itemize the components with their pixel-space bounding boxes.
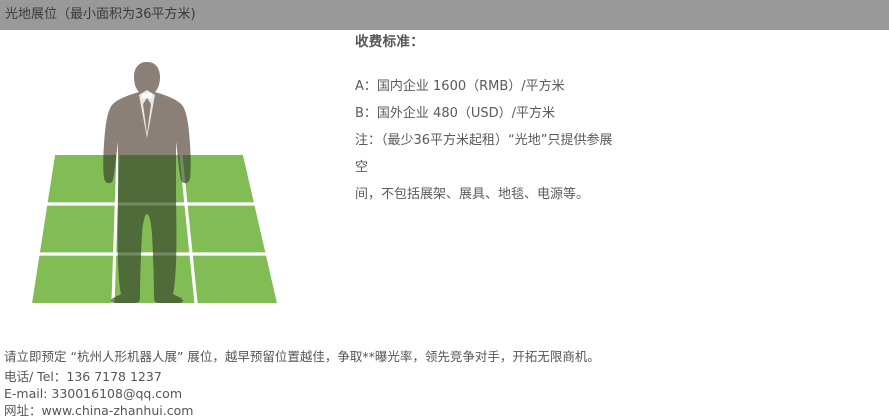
page-title: 光地展位（最小面积为36平方米) <box>5 7 196 23</box>
pricing-item-overseas: B：国外企业 480（USD）/平方米 <box>355 100 775 127</box>
raw-space-diagram-svg <box>0 38 330 328</box>
pricing-note-line-1: 注：（最少36平方米起租）“光地”只提供参展空 <box>355 127 625 181</box>
booth-illustration <box>0 38 330 328</box>
footer-call-to-action: 请立即预定 “杭州人形机器人展” 展位，越早预留位置越佳，争取**曝光率，领先竞… <box>4 348 884 366</box>
pricing-item-domestic: A：国内企业 1600（RMB）/平方米 <box>355 73 775 100</box>
section-header-bar: 光地展位（最小面积为36平方米) <box>0 0 889 30</box>
pricing-list: A：国内企业 1600（RMB）/平方米 B：国外企业 480（USD）/平方米 <box>355 73 775 127</box>
footer-block: 请立即预定 “杭州人形机器人展” 展位，越早预留位置越佳，争取**曝光率，领先竞… <box>4 348 884 419</box>
pricing-heading: 收费标准： <box>355 33 775 51</box>
footer-email[interactable]: E-mail: 330016108@qq.com <box>4 385 884 402</box>
figure-upper <box>90 38 210 155</box>
footer-phone: 电话/ Tel：136 7178 1237 <box>4 368 884 385</box>
footer-website[interactable]: 网址：www.china-zhanhui.com <box>4 402 884 419</box>
pricing-note-line-2: 间，不包括展架、展具、地毯、电源等。 <box>355 181 625 208</box>
pricing-panel: 收费标准： A：国内企业 1600（RMB）/平方米 B：国外企业 480（US… <box>355 33 775 208</box>
collar-detail <box>142 93 152 98</box>
